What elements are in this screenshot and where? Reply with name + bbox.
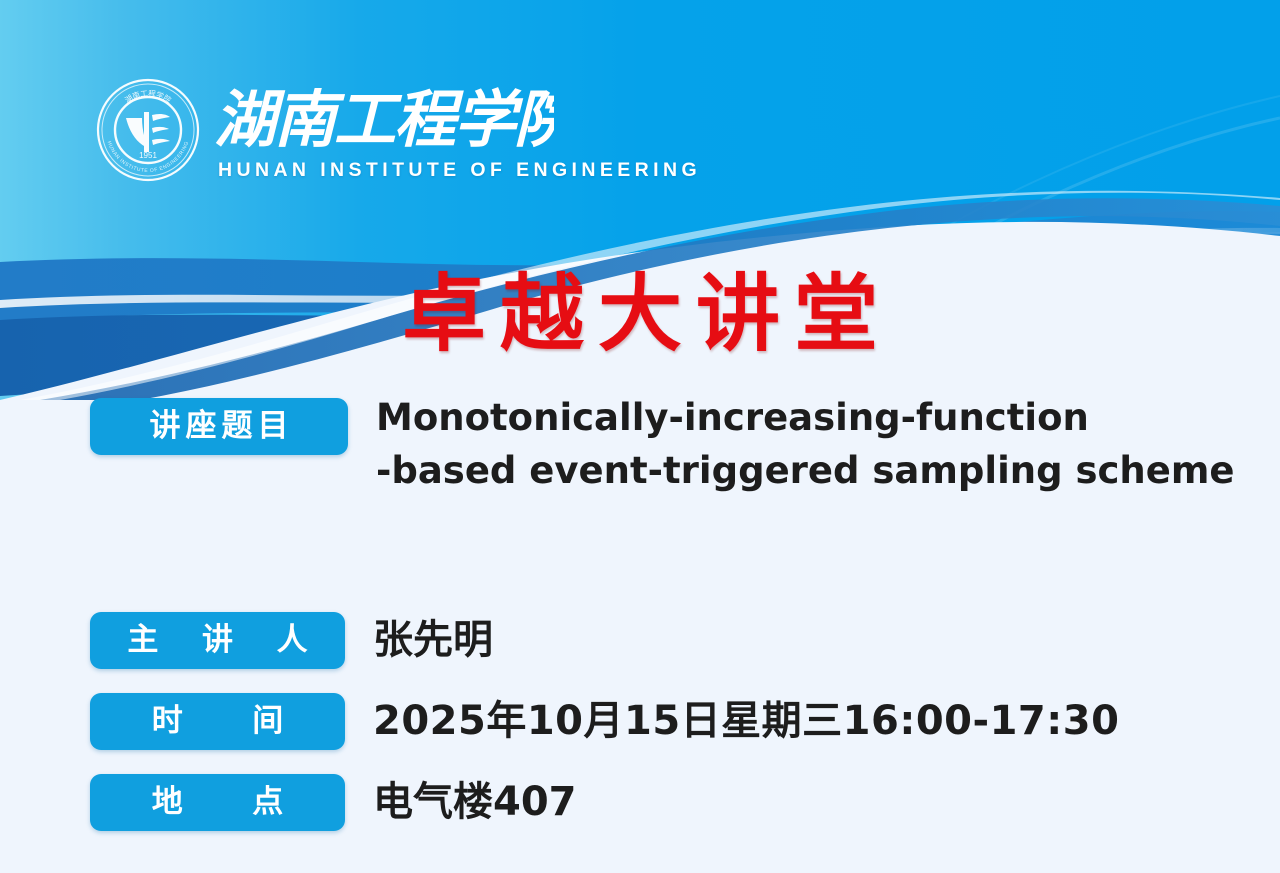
label-speaker-char-1: 主 — [127, 622, 158, 658]
label-lecture-title: 讲座题目 — [90, 398, 348, 455]
page-title: 卓越大讲堂 — [0, 272, 1280, 356]
label-time-char-2: 间 — [252, 703, 283, 739]
row-speaker: 主 讲 人 张先明 — [90, 612, 1250, 669]
institution-name-en: HUNAN INSTITUTE OF ENGINEERING — [218, 159, 701, 182]
label-place-char-1: 地 — [152, 784, 183, 820]
row-time: 时 间 2025年10月15日星期三16:00-17:30 — [90, 693, 1250, 750]
value-place: 电气楼407 — [373, 774, 577, 831]
info-rows: 讲座题目 Monotonically-increasing-function -… — [90, 398, 1250, 831]
label-time-char-1: 时 — [152, 703, 183, 739]
label-place: 地 点 — [90, 774, 345, 831]
university-emblem-icon: 湖南工程学院 HUNAN INSTITUTE OF ENGINEERING 19… — [96, 78, 200, 182]
label-speaker-char-2: 讲 — [202, 622, 233, 658]
lecture-poster: 湖南工程学院 HUNAN INSTITUTE OF ENGINEERING 19… — [0, 0, 1280, 873]
row-lecture-title: 讲座题目 Monotonically-increasing-function -… — [90, 398, 1250, 497]
emblem-founded-year: 1951 — [139, 151, 157, 160]
lecture-title-line-1: Monotonically-increasing-function — [376, 392, 1235, 445]
label-speaker: 主 讲 人 — [90, 612, 345, 669]
emblem-ring-text-cn: 湖南工程学院 — [123, 89, 173, 105]
institution-name-cn-icon: 湖南工程学院 — [214, 83, 554, 157]
value-time: 2025年10月15日星期三16:00-17:30 — [373, 693, 1119, 750]
svg-text:湖南工程学院: 湖南工程学院 — [123, 89, 173, 105]
row-place: 地 点 电气楼407 — [90, 774, 1250, 831]
label-place-char-2: 点 — [252, 784, 283, 820]
label-speaker-char-3: 人 — [277, 622, 308, 658]
label-time: 时 间 — [90, 693, 345, 750]
lecture-title-line-2: -based event-triggered sampling scheme — [376, 445, 1235, 498]
institution-name-cn: 湖南工程学院 — [214, 83, 554, 156]
value-lecture-title: Monotonically-increasing-function -based… — [376, 392, 1235, 497]
value-speaker: 张先明 — [373, 612, 493, 669]
university-logo: 湖南工程学院 HUNAN INSTITUTE OF ENGINEERING 19… — [96, 78, 701, 182]
